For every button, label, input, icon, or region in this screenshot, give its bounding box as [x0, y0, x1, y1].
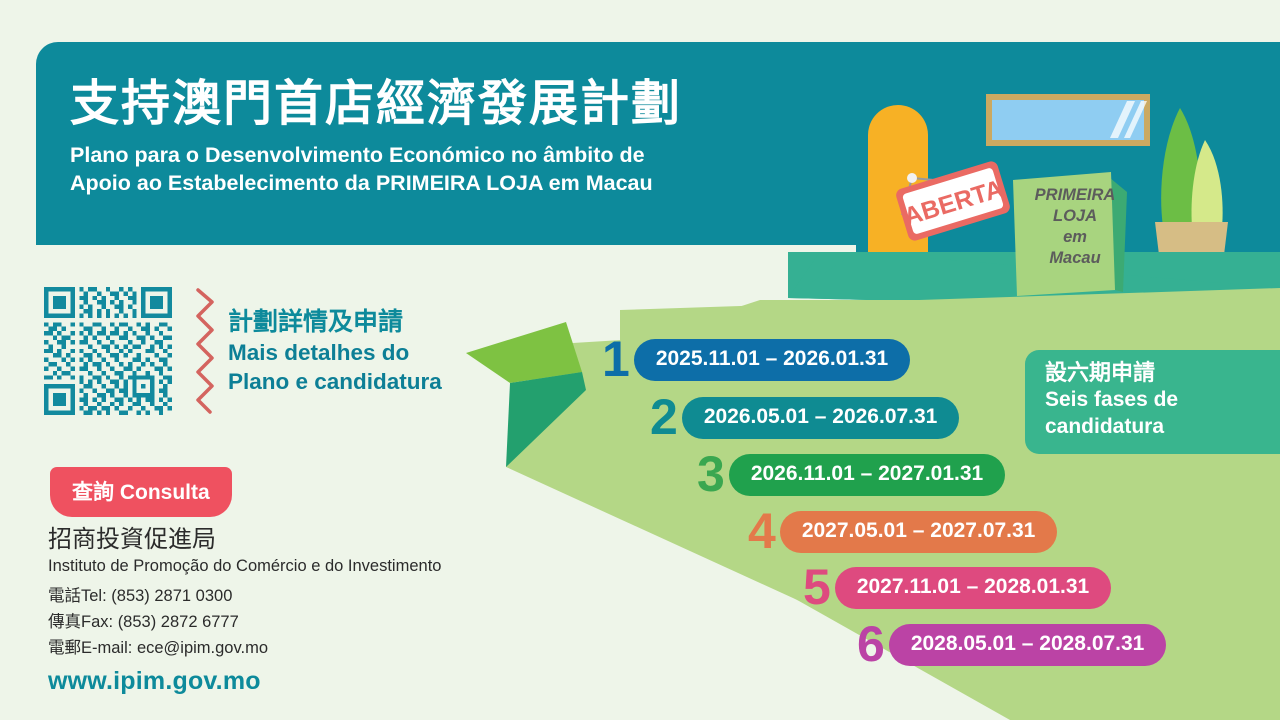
phase-period-5: 2027.11.01 – 2028.01.31	[835, 567, 1111, 609]
phase-period-1: 2025.11.01 – 2026.01.31	[634, 339, 910, 381]
phase-number-4: 4	[748, 506, 776, 556]
phase-number-2: 2	[650, 392, 678, 442]
timeline-phase-3[interactable]: 3 2026.11.01 – 2027.01.31	[697, 449, 1005, 501]
timeline-phase-2[interactable]: 2 2026.05.01 – 2026.07.31	[650, 392, 959, 444]
phase-number-3: 3	[697, 449, 725, 499]
phase-period-2: 2026.05.01 – 2026.07.31	[682, 397, 960, 439]
phase-number-6: 6	[857, 619, 885, 669]
phase-period-4: 2027.05.01 – 2027.07.31	[780, 511, 1058, 553]
timeline-phase-6[interactable]: 6 2028.05.01 – 2028.07.31	[857, 619, 1166, 671]
phase-period-3: 2026.11.01 – 2027.01.31	[729, 454, 1005, 496]
timeline-list: 1 2025.11.01 – 2026.01.31 2 2026.05.01 –…	[0, 0, 1280, 720]
phase-number-5: 5	[803, 562, 831, 612]
phase-number-1: 1	[602, 334, 630, 384]
timeline-phase-5[interactable]: 5 2027.11.01 – 2028.01.31	[803, 562, 1111, 614]
phase-period-6: 2028.05.01 – 2028.07.31	[889, 624, 1167, 666]
timeline-phase-4[interactable]: 4 2027.05.01 – 2027.07.31	[748, 506, 1057, 558]
infographic-poster: 支持澳門首店經濟發展計劃 Plano para o Desenvolviment…	[0, 0, 1280, 720]
timeline-phase-1[interactable]: 1 2025.11.01 – 2026.01.31	[602, 334, 910, 386]
